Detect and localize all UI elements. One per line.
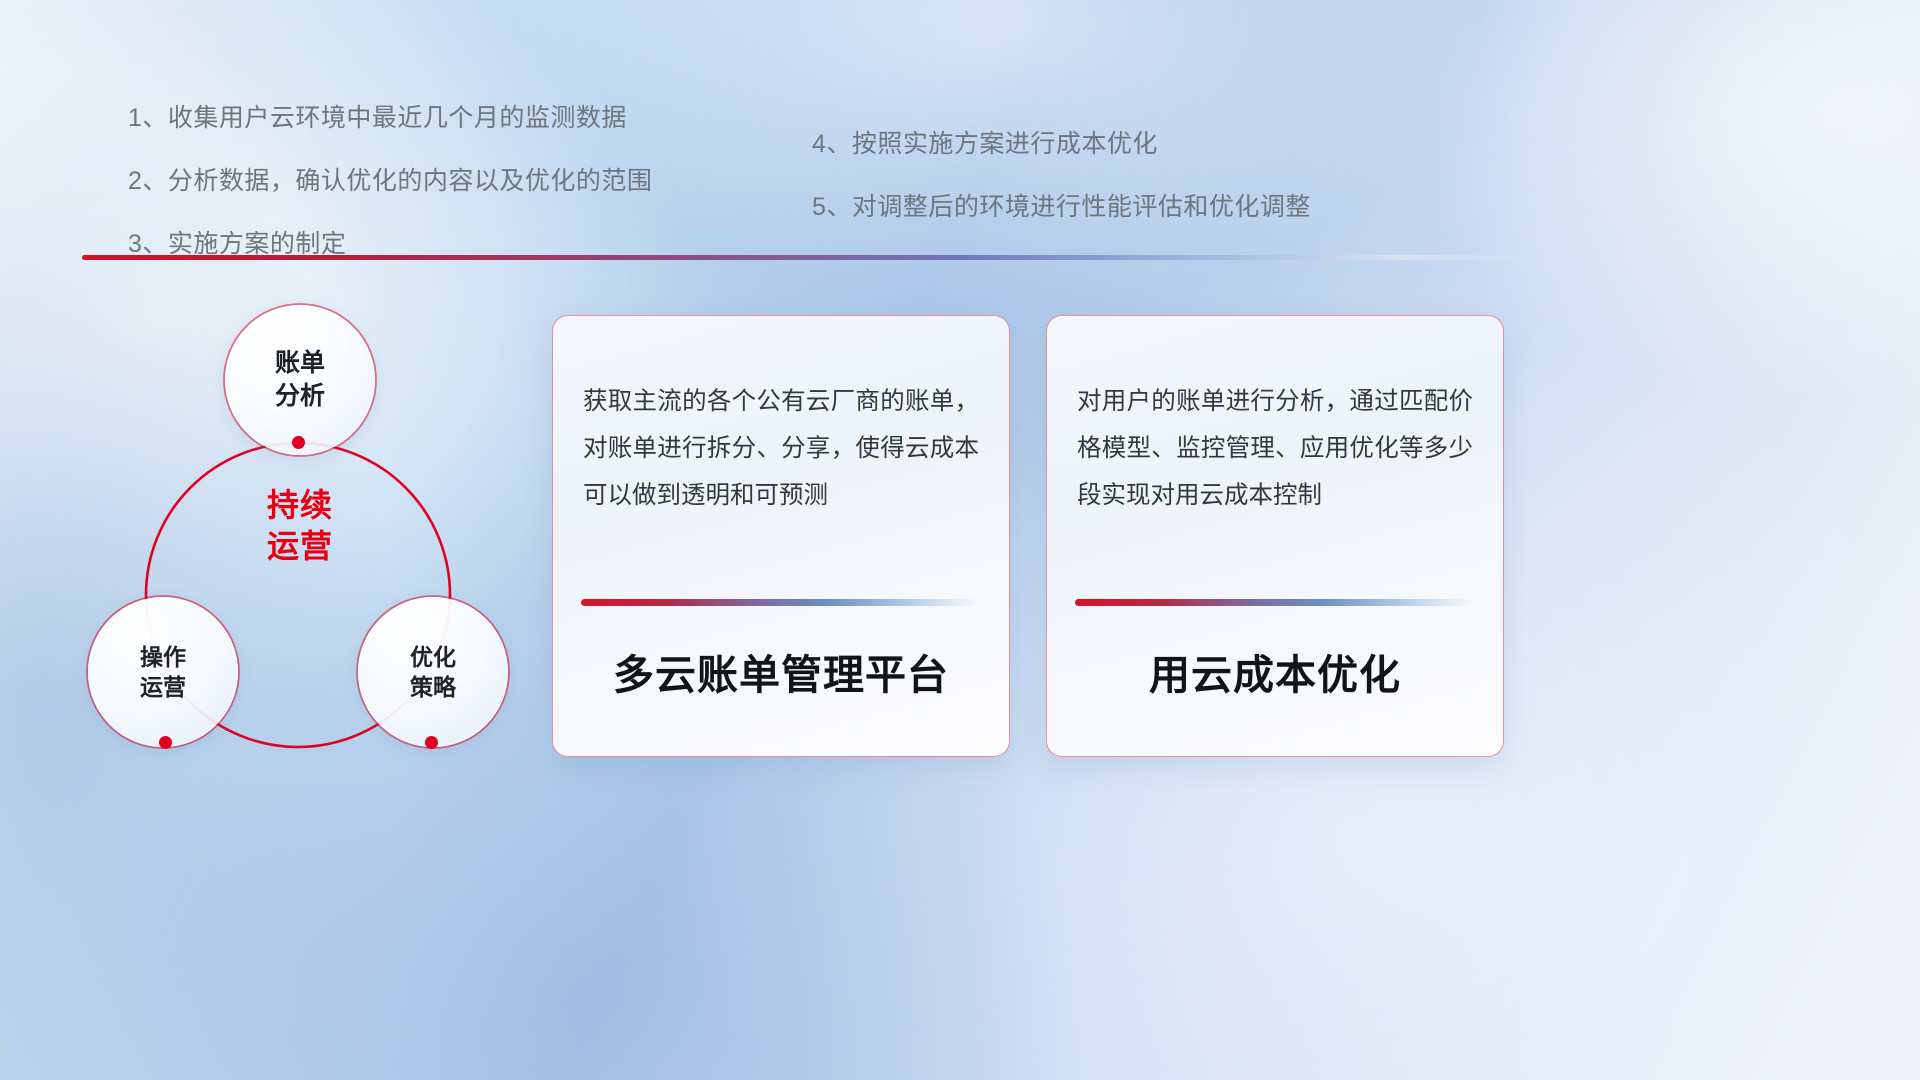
card-multicloud-billing-platform[interactable]: 获取主流的各个公有云厂商的账单，对账单进行拆分、分享，使得云成本可以做到透明和可… bbox=[552, 315, 1010, 757]
bubble-bill-analysis[interactable]: 账单 分析 bbox=[225, 305, 375, 455]
bubble-operation[interactable]: 操作 运营 bbox=[88, 597, 238, 747]
venn-node-dot-right bbox=[425, 736, 438, 749]
process-step-2: 2、分析数据，确认优化的内容以及优化的范围 bbox=[128, 161, 652, 197]
process-step-4: 4、按照实施方案进行成本优化 bbox=[812, 124, 1311, 160]
process-step-5: 5、对调整后的环境进行性能评估和优化调整 bbox=[812, 187, 1311, 223]
bubble-optimization-strategy-line2: 策略 bbox=[410, 672, 456, 702]
continuous-operation-diagram: 账单 分析 操作 运营 优化 策略 持续 运营 bbox=[70, 290, 540, 770]
venn-node-dot-left bbox=[159, 736, 172, 749]
bubble-optimization-strategy[interactable]: 优化 策略 bbox=[358, 597, 508, 747]
card-cloud-cost-optimization[interactable]: 对用户的账单进行分析，通过匹配价格模型、监控管理、应用优化等多少段实现对用云成本… bbox=[1046, 315, 1504, 757]
venn-center-label: 持续 运营 bbox=[235, 485, 365, 567]
process-step-1: 1、收集用户云环境中最近几个月的监测数据 bbox=[128, 98, 652, 134]
process-steps-right: 4、按照实施方案进行成本优化 5、对调整后的环境进行性能评估和优化调整 bbox=[812, 124, 1311, 250]
bubble-bill-analysis-line1: 账单 bbox=[275, 347, 325, 380]
card-1-description: 获取主流的各个公有云厂商的账单，对账单进行拆分、分享，使得云成本可以做到透明和可… bbox=[583, 378, 979, 519]
card-2-title: 用云成本优化 bbox=[1077, 641, 1473, 701]
bubble-optimization-strategy-line1: 优化 bbox=[410, 642, 456, 672]
card-1-title: 多云账单管理平台 bbox=[583, 641, 979, 701]
bubble-operation-line2: 运营 bbox=[140, 672, 186, 702]
card-1-divider bbox=[581, 599, 979, 606]
card-2-description: 对用户的账单进行分析，通过匹配价格模型、监控管理、应用优化等多少段实现对用云成本… bbox=[1077, 378, 1473, 519]
venn-node-dot-top bbox=[292, 436, 305, 449]
bubble-bill-analysis-line2: 分析 bbox=[275, 380, 325, 413]
section-divider bbox=[82, 255, 1550, 260]
card-2-divider bbox=[1075, 599, 1473, 606]
venn-center-label-line1: 持续 bbox=[235, 485, 365, 526]
bubble-operation-line1: 操作 bbox=[140, 642, 186, 672]
venn-center-label-line2: 运营 bbox=[235, 526, 365, 567]
